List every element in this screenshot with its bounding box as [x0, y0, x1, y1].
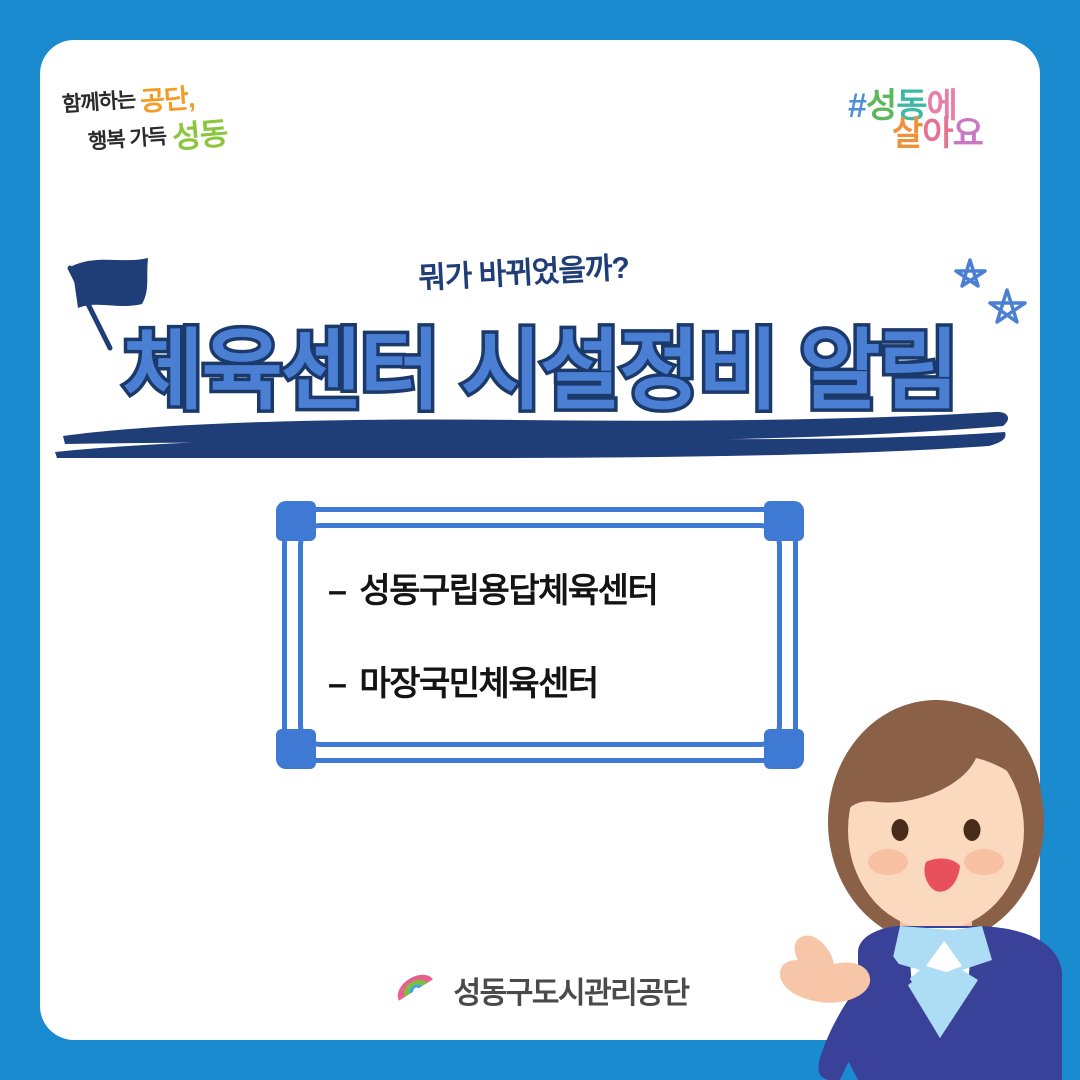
- list-item-dash: –: [328, 665, 345, 704]
- hashtag-logo-row-2: 살아요: [892, 106, 983, 155]
- footer-organization-name: 성동구도시관리공단: [454, 968, 689, 1012]
- brush-underline: [45, 398, 1035, 468]
- hashtag-char-6: 요: [953, 115, 983, 153]
- corner-bracket-top-left: [276, 501, 316, 541]
- list-item-label: 마장국민체육센터: [359, 665, 597, 703]
- facility-list: –성동구립용답체육센터 –마장국민체육센터: [328, 563, 770, 705]
- poster-canvas: 함께하는공단, 행복 가득성동 #성동에 살아요 뭐가 바뀌었을까? 체육센터 …: [0, 0, 1080, 1080]
- list-item-label: 성동구립용답체육센터: [359, 572, 657, 610]
- smiling-female-staff-illustration: [740, 690, 1080, 1080]
- list-item: –성동구립용답체육센터: [328, 563, 770, 612]
- brand-logo-text-plain-2: 행복 가득: [87, 120, 167, 155]
- hashtag-logo: #성동에 살아요: [848, 72, 1018, 162]
- list-item: –마장국민체육센터: [328, 656, 770, 705]
- hashtag-char-5: 아: [922, 115, 952, 153]
- list-item-dash: –: [328, 572, 345, 611]
- brand-logo: 함께하는공단, 행복 가득성동: [62, 78, 292, 158]
- corner-bracket-bottom-left: [276, 729, 316, 769]
- hashtag-char-0: #: [848, 87, 866, 125]
- brand-logo-line-2: 행복 가득성동: [88, 110, 227, 155]
- rainbow-swoosh-logo: [392, 969, 440, 1011]
- hashtag-char-4: 살: [892, 115, 922, 153]
- corner-bracket-top-right: [764, 501, 804, 541]
- facility-list-box: –성동구립용답체육센터 –마장국민체육센터: [270, 495, 810, 775]
- brand-logo-text-accent-2: 성동: [170, 108, 229, 158]
